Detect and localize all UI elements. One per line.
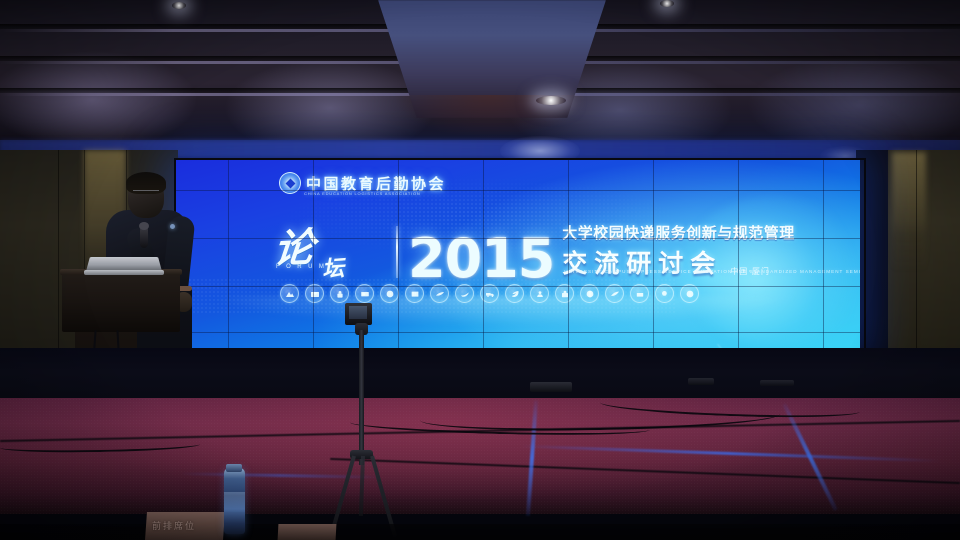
led-panel-seam	[176, 238, 860, 239]
led-panel-seam	[568, 160, 569, 350]
water-bottle-cap	[226, 464, 242, 472]
name-placard-text: 前排席位	[152, 519, 218, 532]
banner-title-line2: 交流研讨会	[562, 244, 722, 280]
led-panel-seam	[313, 160, 314, 350]
led-panel-seam	[176, 286, 860, 287]
foreground-shadow	[0, 524, 960, 540]
ceiling-spotlight-icon	[660, 0, 674, 7]
led-panel-seam	[176, 332, 860, 333]
led-bottom-wave	[176, 296, 860, 350]
led-panel-seam	[176, 190, 860, 191]
association-name-en: CHINA EDUCATION LOGISTICS ASSOCIATION	[304, 191, 421, 196]
banner-lockup: 论 坛 F O R U M 2015 大学校园快递服务创新与规范管理 交流研讨会…	[272, 218, 795, 282]
banner-year: 2015	[408, 234, 554, 284]
stage-equipment	[760, 380, 794, 386]
right-wall-sconce-glow	[892, 152, 926, 272]
ceiling-spotlight-icon	[536, 96, 566, 105]
stage-equipment	[688, 378, 714, 385]
led-panel-seam	[228, 160, 229, 350]
laptop-base	[84, 270, 164, 275]
banner-titles: 大学校园快递服务创新与规范管理 交流研讨会 中国·厦门 UNIVERSITY C…	[562, 222, 795, 280]
led-video-wall: 中国教育后勤协会 CHINA EDUCATION LOGISTICS ASSOC…	[176, 160, 860, 350]
banner-title-en: UNIVERSITY CAMPUS EXPRESS SERVICE INNOVA…	[564, 269, 860, 274]
led-panel-seam	[653, 160, 654, 350]
led-panel-seam	[398, 160, 399, 350]
water-bottle-label	[224, 492, 245, 512]
tripod-center-column	[359, 330, 364, 465]
podium	[62, 272, 180, 332]
stage-equipment	[530, 382, 572, 392]
led-panel-seam	[483, 160, 484, 350]
banner-title-line1: 大学校园快递服务创新与规范管理	[562, 222, 795, 243]
led-panel-seam	[738, 160, 739, 350]
name-placard	[278, 524, 337, 540]
forum-mark: 论 坛 F O R U M	[272, 218, 392, 282]
lapel-pin-icon	[170, 224, 175, 229]
forum-mark-en: F O R U M	[276, 264, 326, 270]
led-panel-seam	[823, 160, 824, 350]
microphone-head-icon	[139, 222, 149, 230]
ceiling-spotlight-icon	[172, 2, 186, 9]
camera-screen	[349, 306, 367, 319]
eyeglasses-icon	[133, 190, 159, 197]
photo-scene: 中国教育后勤协会 CHINA EDUCATION LOGISTICS ASSOC…	[0, 0, 960, 540]
